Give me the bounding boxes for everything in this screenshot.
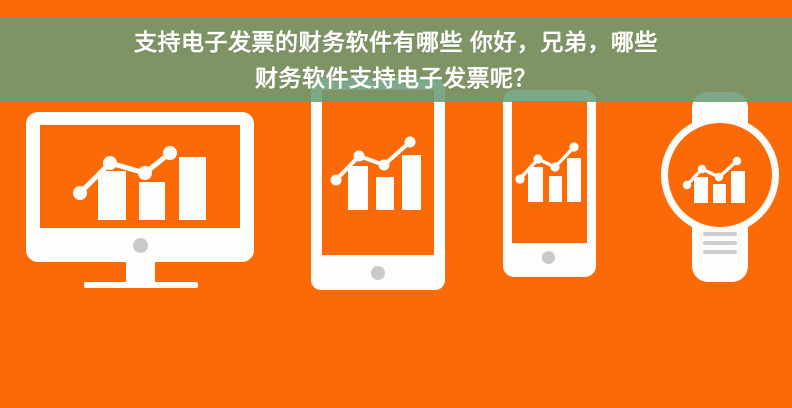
promo-banner-image: 支持电子发票的财务软件有哪些 你好，兄弟，哪些 财务软件支持电子发票呢？ [0, 0, 792, 408]
tablet-home-button[interactable] [371, 266, 385, 280]
monitor-screen [40, 125, 240, 228]
banner-title-line-1: 支持电子发票的财务软件有哪些 你好，兄弟，哪些 [134, 24, 658, 60]
watch-face [661, 116, 779, 234]
analytics-chart-icon [40, 125, 240, 228]
monitor-indicator-dot [133, 238, 148, 253]
monitor-stand-base [84, 282, 198, 288]
tablet-screen [322, 90, 434, 255]
desktop-monitor [26, 112, 254, 292]
watch-band-line [703, 250, 737, 254]
tablet-device [311, 78, 445, 290]
title-banner: 支持电子发票的财务软件有哪些 你好，兄弟，哪些 财务软件支持电子发票呢？ [0, 17, 792, 102]
smartwatch-device [661, 92, 779, 282]
phone-home-button[interactable] [542, 251, 555, 264]
banner-title-line-2: 财务软件支持电子发票呢？ [255, 60, 537, 96]
analytics-chart-icon [668, 123, 772, 227]
watch-band-line [703, 241, 737, 245]
watch-band-line [703, 232, 737, 236]
phone-screen [512, 101, 587, 243]
analytics-chart-icon [512, 101, 587, 243]
smartphone-device [503, 90, 596, 277]
analytics-chart-icon [322, 90, 434, 255]
monitor-stand-neck [126, 262, 155, 284]
